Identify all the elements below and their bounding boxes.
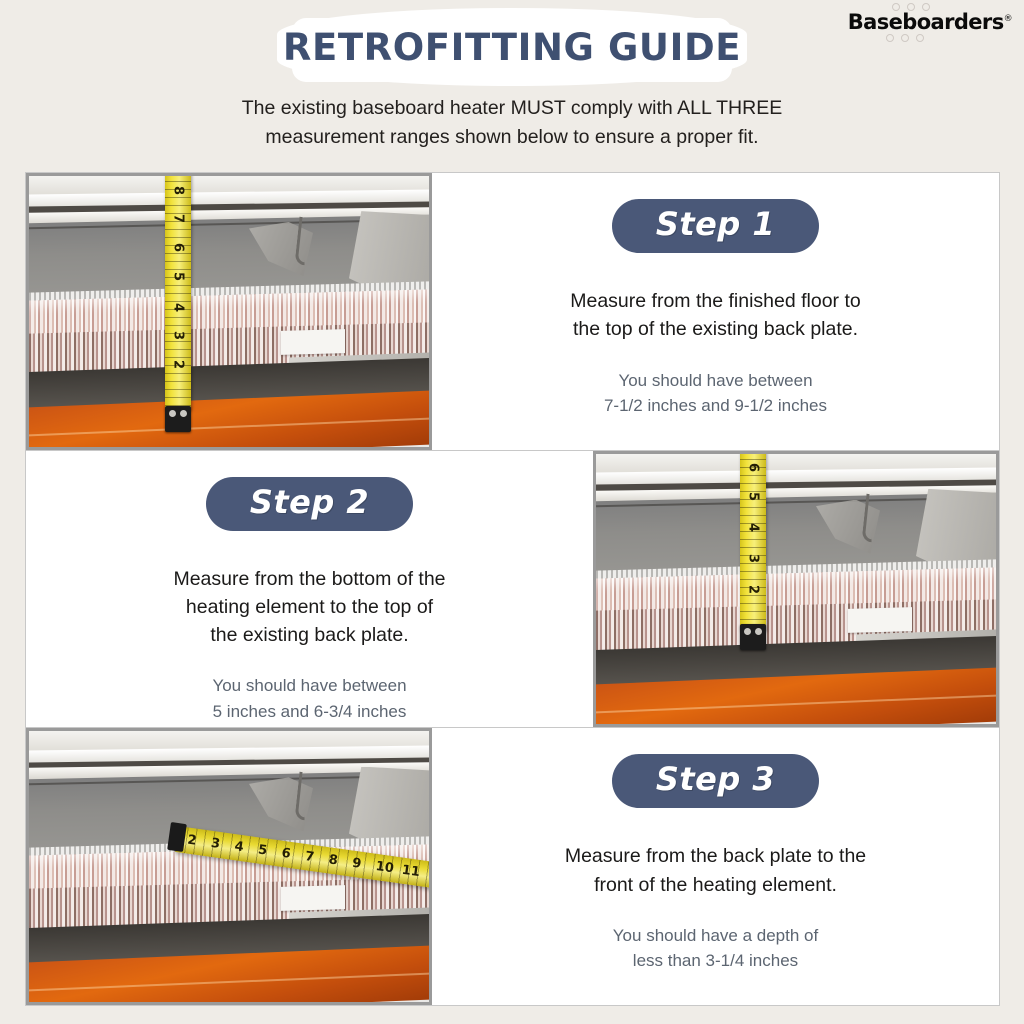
step-3-note: You should have a depth of less than 3-1… bbox=[613, 923, 818, 974]
step-3-text: Step 3 Measure from the back plate to th… bbox=[432, 728, 999, 1005]
step-2-description: Measure from the bottom of the heating e… bbox=[173, 565, 445, 650]
step-3-desc-line-2: front of the heating element. bbox=[565, 871, 866, 899]
tape-measure-icon: 6 5 4 3 2 bbox=[740, 454, 766, 633]
step-3-note-line-1: You should have a depth of bbox=[613, 923, 818, 949]
step-2-note-line-2: 5 inches and 6-3/4 inches bbox=[212, 699, 406, 725]
step-2-photo: 6 5 4 3 2 bbox=[593, 451, 999, 728]
step-2-note: You should have between 5 inches and 6-3… bbox=[212, 673, 406, 724]
logo-trademark: ® bbox=[1004, 14, 1012, 24]
step-row-1: 8 7 6 5 4 3 2 Step 1 Measure from the fi… bbox=[26, 173, 999, 451]
step-1-description: Measure from the finished floor to the t… bbox=[570, 287, 860, 344]
step-3-photo: 2 3 4 5 6 7 8 9 10 11 bbox=[26, 728, 432, 1005]
subtitle-line-2: measurement ranges shown below to ensure… bbox=[0, 123, 1024, 152]
step-1-note-line-2: 7-1/2 inches and 9-1/2 inches bbox=[604, 393, 827, 419]
brand-logo: Baseboarders® bbox=[848, 12, 1012, 33]
step-row-3: 2 3 4 5 6 7 8 9 10 11 Step 3 Measure fro… bbox=[26, 728, 999, 1005]
step-1-note-line-1: You should have between bbox=[604, 368, 827, 394]
step-row-2: 6 5 4 3 2 Step 2 Measure from the bottom… bbox=[26, 451, 999, 729]
step-1-desc-line-2: the top of the existing back plate. bbox=[570, 315, 860, 343]
steps-card: 8 7 6 5 4 3 2 Step 1 Measure from the fi… bbox=[25, 172, 1000, 1006]
page-title: RETROFITTING GUIDE bbox=[283, 26, 741, 69]
step-1-photo: 8 7 6 5 4 3 2 bbox=[26, 173, 432, 450]
step-2-text: Step 2 Measure from the bottom of the he… bbox=[26, 451, 593, 728]
page-header: RETROFITTING GUIDE Baseboarders® The exi… bbox=[0, 0, 1024, 160]
tape-measure-icon: 8 7 6 5 4 3 2 bbox=[165, 176, 191, 411]
step-1-desc-line-1: Measure from the finished floor to bbox=[570, 287, 860, 315]
logo-wordmark: Baseboarders bbox=[848, 10, 1004, 34]
step-1-note: You should have between 7-1/2 inches and… bbox=[604, 368, 827, 419]
subtitle-line-1: The existing baseboard heater MUST compl… bbox=[0, 94, 1024, 123]
logo-dots-bottom-icon bbox=[886, 34, 924, 42]
step-1-text: Step 1 Measure from the finished floor t… bbox=[432, 173, 999, 450]
step-2-desc-line-3: the existing back plate. bbox=[173, 621, 445, 649]
step-2-desc-line-2: heating element to the top of bbox=[173, 593, 445, 621]
step-1-badge: Step 1 bbox=[612, 199, 819, 253]
page-subtitle: The existing baseboard heater MUST compl… bbox=[0, 94, 1024, 153]
step-2-desc-line-1: Measure from the bottom of the bbox=[173, 565, 445, 593]
step-3-description: Measure from the back plate to the front… bbox=[565, 842, 866, 899]
title-banner: RETROFITTING GUIDE bbox=[277, 8, 747, 86]
step-3-desc-line-1: Measure from the back plate to the bbox=[565, 842, 866, 870]
logo-dots-top-icon bbox=[892, 3, 930, 11]
step-2-note-line-1: You should have between bbox=[212, 673, 406, 699]
step-3-note-line-2: less than 3-1/4 inches bbox=[613, 948, 818, 974]
step-2-badge: Step 2 bbox=[206, 477, 413, 531]
step-3-badge: Step 3 bbox=[612, 754, 819, 808]
